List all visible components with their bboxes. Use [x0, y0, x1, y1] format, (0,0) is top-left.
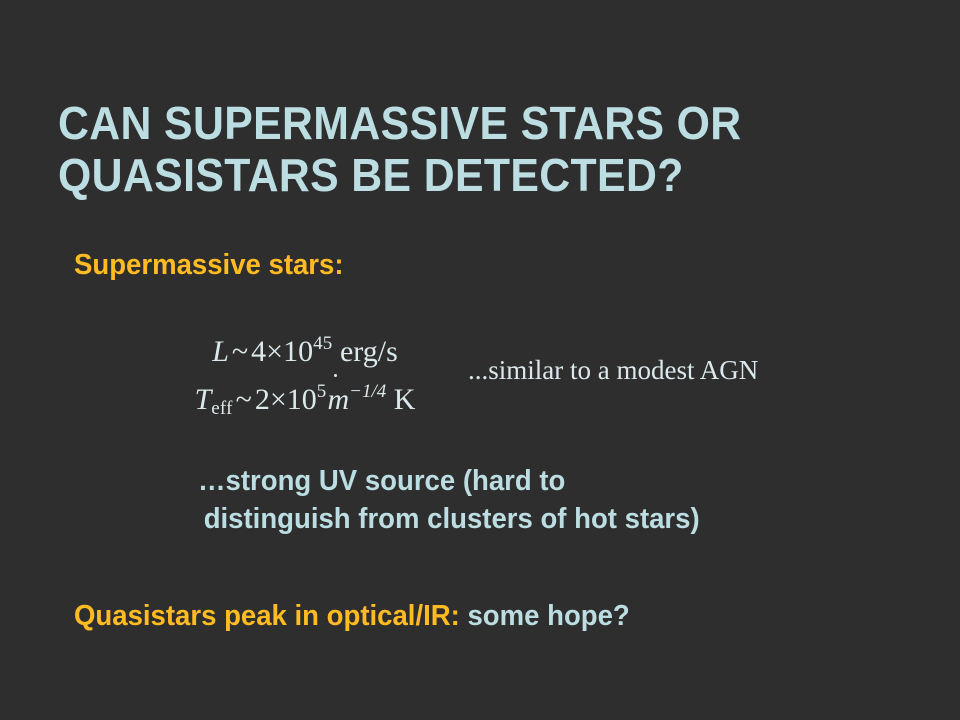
luminosity-units: erg/s [340, 335, 398, 368]
luminosity-base: 10 [283, 335, 313, 368]
mdot-overdot-icon [334, 374, 338, 378]
temperature-relation: ~ [233, 383, 255, 416]
equations-block: L~4×1045 erg/s Teff~2×105m−1/4 K [140, 324, 470, 429]
temperature-units: K [394, 383, 416, 416]
luminosity-times: × [266, 335, 283, 368]
temperature-exponent: 5 [317, 381, 327, 402]
supermassive-stars-heading: Supermassive stars: [74, 248, 344, 282]
mdot-letter: m [327, 383, 349, 416]
slide-title: Can supermassive stars or quasistars be … [58, 97, 839, 201]
luminosity-symbol: L [212, 335, 229, 368]
temperature-base: 10 [287, 383, 317, 416]
mass-accretion-rate-symbol: m [326, 383, 349, 416]
slide-canvas: Can supermassive stars or quasistars be … [0, 0, 960, 720]
agn-comparison-note: ...similar to a modest AGN [468, 354, 758, 386]
mdot-exponent: −1/4 [349, 381, 386, 402]
equation-effective-temperature: Teff~2×105m−1/4 K [140, 372, 470, 429]
quasistars-remainder-text: some hope? [460, 600, 630, 632]
luminosity-mantissa: 4 [251, 335, 266, 368]
temperature-subscript: eff [211, 398, 232, 419]
uv-source-note: …strong UV source (hard to distinguish f… [198, 462, 863, 538]
quasistars-conclusion: Quasistars peak in optical/IR: some hope… [74, 598, 630, 634]
temperature-symbol: T [195, 383, 212, 416]
equation-luminosity: L~4×1045 erg/s [140, 324, 470, 372]
quasistars-emphasis-text: Quasistars peak in optical/IR: [74, 600, 460, 632]
luminosity-relation: ~ [229, 335, 251, 368]
uv-source-line-1: …strong UV source (hard to [198, 465, 565, 497]
temperature-mantissa: 2 [255, 383, 270, 416]
temperature-times: × [270, 383, 287, 416]
luminosity-exponent: 45 [313, 333, 332, 354]
uv-source-line-2: distinguish from clusters of hot stars) [198, 500, 863, 538]
